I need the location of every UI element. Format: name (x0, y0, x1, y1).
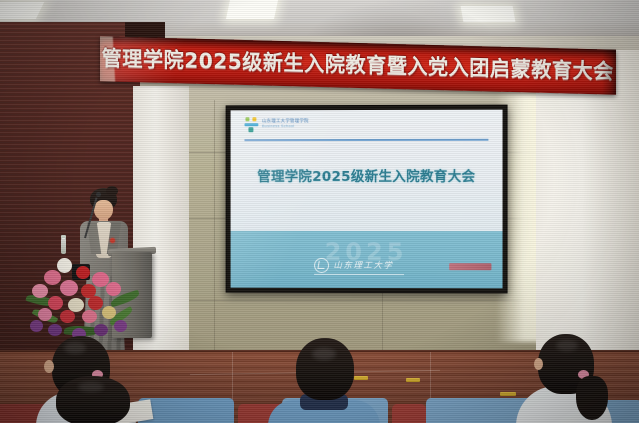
seat-back (392, 404, 426, 423)
university-name: 山东理工大学 (333, 259, 393, 271)
hair-highlight (312, 348, 336, 360)
pillar-right (536, 50, 639, 350)
wall-panel-seam-5 (214, 100, 215, 352)
slide-school-logo: 山东理工大学管理学院 Business School (244, 117, 309, 132)
pink-carnation (32, 284, 48, 298)
pink-lily (44, 270, 61, 285)
red-rose (88, 296, 103, 310)
floor-seam-left (232, 352, 233, 400)
flower-arrangement (24, 250, 142, 346)
floor-seam-right (430, 352, 431, 400)
purple-orchid (48, 324, 62, 336)
projection-screen-frame: 山东理工大学管理学院 Business School 管理学院2025级新生入院… (226, 105, 508, 294)
pink-carnation (38, 308, 52, 321)
audience-right-ear (534, 358, 543, 370)
pink-lily (106, 282, 121, 296)
water-bottle (61, 238, 66, 254)
banner-title: 管理学院2025级新生入院教育暨入党入团启蒙教育大会 (102, 48, 614, 82)
red-rose (60, 310, 75, 323)
purple-orchid (30, 320, 43, 332)
speaker-hair-bun (106, 186, 118, 196)
pink-lily (60, 280, 78, 296)
hair-highlight (556, 340, 578, 351)
yellow-rose (102, 306, 116, 319)
banner-edge-shadow (602, 49, 616, 94)
white-lily (57, 258, 72, 273)
purple-orchid (114, 320, 127, 332)
university-logo: 山东理工大学 (314, 258, 393, 273)
slide-corner-badge (449, 263, 491, 270)
hair-highlight (64, 342, 86, 354)
wall-panel-seam-4 (382, 292, 383, 352)
audience-left-ear (44, 360, 54, 373)
seat-back (138, 398, 234, 423)
slide-logo-en: Business School (262, 125, 309, 129)
university-seal-icon (314, 258, 329, 273)
red-rose (48, 296, 63, 310)
pink-carnation (82, 310, 97, 323)
ceiling-light-1 (0, 2, 44, 19)
hair-highlight (78, 382, 104, 392)
slide-title: 管理学院2025级新生入院教育大会 (231, 165, 503, 185)
purple-orchid (94, 324, 108, 336)
floor-marker-tape (500, 392, 516, 396)
red-rose (76, 266, 90, 279)
floor-marker-tape (354, 376, 368, 380)
projection-screen: 山东理工大学管理学院 Business School 管理学院2025级新生入院… (231, 110, 503, 289)
school-logo-icon (244, 117, 259, 132)
university-logo-underline (314, 274, 404, 275)
ceiling-light-2 (226, 0, 278, 19)
speaker-lapel-pin (110, 238, 115, 243)
floor-marker-tape (406, 378, 420, 382)
microphone-head (96, 192, 101, 197)
audience-right-ponytail (576, 376, 608, 420)
photo-scene: 管理学院2025级新生入院教育暨入党入团启蒙教育大会 山东理工大学管理学院 Bu… (0, 0, 639, 423)
wall-panel-seam-3 (140, 300, 540, 301)
